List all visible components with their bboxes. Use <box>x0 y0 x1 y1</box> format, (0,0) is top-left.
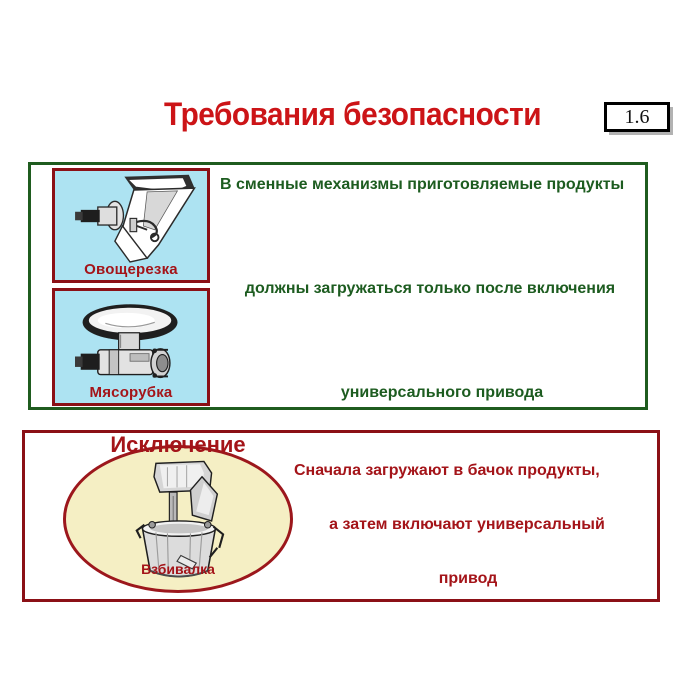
attachment-card-vegetable-cutter: Овощерезка <box>52 168 210 283</box>
safety-rule-line-1: В сменные механизмы приготовляемые проду… <box>218 176 642 194</box>
safety-rule-line-2: должны загружаться только после включени… <box>218 280 642 298</box>
attachment-card-caption: Овощерезка <box>55 261 207 278</box>
attachment-card-meat-grinder: Мясорубка <box>52 288 210 406</box>
attachment-card-caption: Мясорубка <box>55 384 207 401</box>
slide-number-badge: 1.6 <box>604 102 670 132</box>
exception-line-3: привод <box>292 570 648 588</box>
page-title: Требования безопасности <box>164 96 536 133</box>
slide-number-value: 1.6 <box>607 105 667 129</box>
whisk-caption: Взбивалка <box>63 561 293 577</box>
exception-heading: Исключение <box>78 432 278 458</box>
exception-line-1: Сначала загружают в бачок продукты, <box>292 462 648 480</box>
exception-line-2: а затем включают универсальный <box>292 516 648 534</box>
exception-text: Сначала загружают в бачок продукты, а за… <box>292 462 648 588</box>
safety-rule-line-3: универсального привода <box>218 384 642 402</box>
safety-rule-text: В сменные механизмы приготовляемые проду… <box>218 176 642 402</box>
